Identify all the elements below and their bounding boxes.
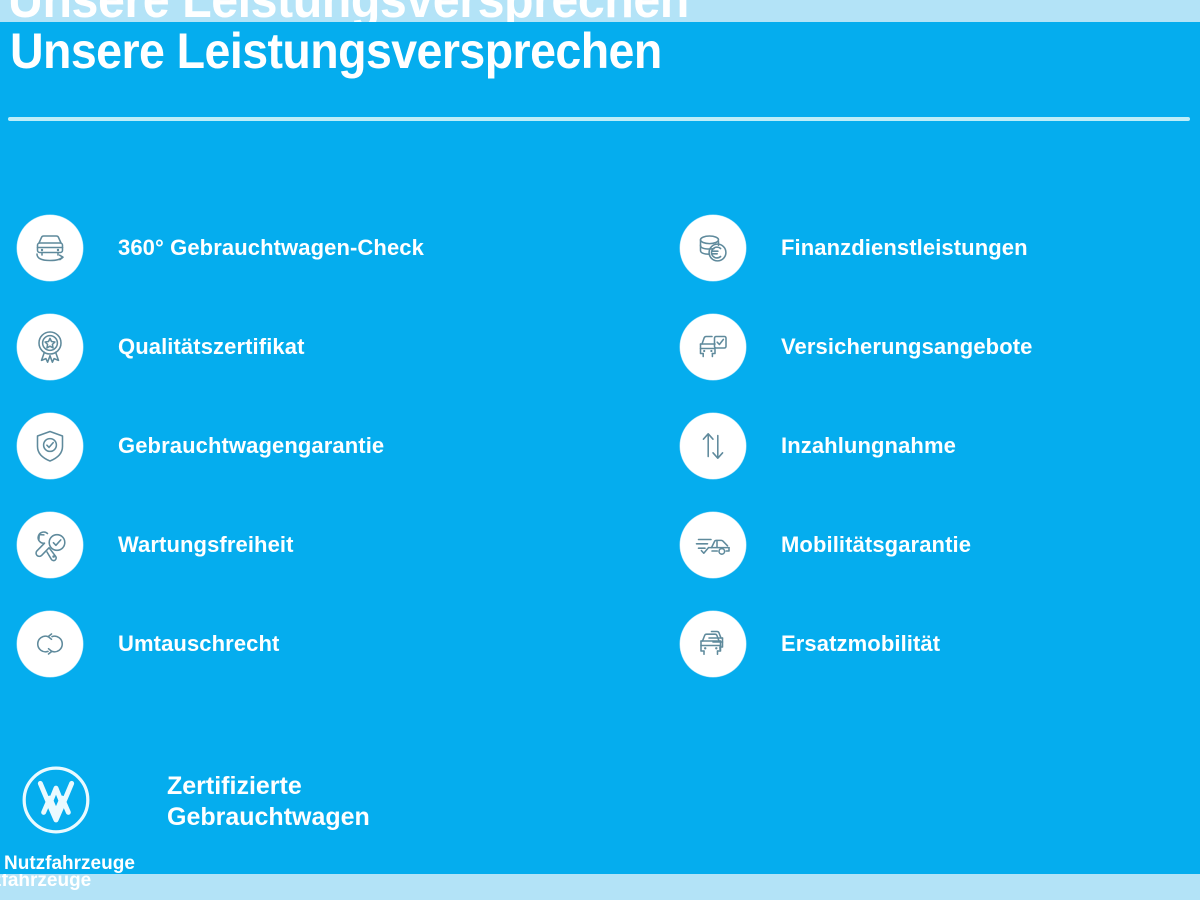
feature-item[interactable]: Wartungsfreiheit <box>17 495 657 594</box>
two-cars-icon <box>680 611 746 677</box>
feature-label: Wartungsfreiheit <box>118 532 294 558</box>
feature-label: Versicherungsangebote <box>781 334 1033 360</box>
feature-label: Umtauschrecht <box>118 631 279 657</box>
brand-line-2: Gebrauchtwagen <box>167 802 370 833</box>
brand-lockup: Zertifizierte Gebrauchtwagen <box>18 762 370 838</box>
feature-item[interactable]: Finanzdienstleistungen <box>680 198 1200 297</box>
exchange-arrows-icon <box>17 611 83 677</box>
clipped-sub-band-bottom: zfahrzeuge <box>0 874 1200 900</box>
feature-item[interactable]: 360° Gebrauchtwagen-Check <box>17 198 657 297</box>
feature-label: Mobilitätsgarantie <box>781 532 971 558</box>
award-rosette-icon <box>17 314 83 380</box>
title-divider-rule <box>8 117 1190 121</box>
car-checkbox-icon <box>680 314 746 380</box>
feature-item[interactable]: Gebrauchtwagengarantie <box>17 396 657 495</box>
clipped-title-band-top: Unsere Leistungsversprechen <box>0 0 1200 22</box>
wrench-check-icon <box>17 512 83 578</box>
coins-euro-icon <box>680 215 746 281</box>
feature-label: Ersatzmobilität <box>781 631 940 657</box>
page-title: Unsere Leistungsversprechen <box>10 22 662 80</box>
feature-label: 360° Gebrauchtwagen-Check <box>118 235 424 261</box>
feature-item[interactable]: Ersatzmobilität <box>680 594 1200 693</box>
car-360-check-icon <box>17 215 83 281</box>
feature-item[interactable]: Qualitätszertifikat <box>17 297 657 396</box>
brand-sub-label: Nutzfahrzeuge <box>4 853 135 875</box>
car-speed-check-icon <box>680 512 746 578</box>
feature-column-right: Finanzdienstleistungen <box>680 198 1200 693</box>
feature-column-left: 360° Gebrauchtwagen-Check Qualitätszerti… <box>17 198 657 693</box>
brand-line-1: Zertifizierte <box>167 771 370 802</box>
feature-item[interactable]: Versicherungsangebote <box>680 297 1200 396</box>
slide-canvas: Unsere Leistungsversprechen Unsere Leist… <box>0 0 1200 900</box>
feature-label: Gebrauchtwagengarantie <box>118 433 384 459</box>
up-down-arrows-icon <box>680 413 746 479</box>
feature-item[interactable]: Mobilitätsgarantie <box>680 495 1200 594</box>
feature-item[interactable]: Umtauschrecht <box>17 594 657 693</box>
feature-label: Qualitätszertifikat <box>118 334 305 360</box>
volkswagen-logo <box>18 762 94 838</box>
feature-label: Inzahlungnahme <box>781 433 956 459</box>
feature-item[interactable]: Inzahlungnahme <box>680 396 1200 495</box>
clipped-sub-ghost-text: zfahrzeuge <box>0 874 91 892</box>
clipped-title-ghost-text: Unsere Leistungsversprechen <box>8 0 689 22</box>
feature-label: Finanzdienstleistungen <box>781 235 1028 261</box>
brand-text-block: Zertifizierte Gebrauchtwagen <box>167 771 370 833</box>
shield-check-icon <box>17 413 83 479</box>
